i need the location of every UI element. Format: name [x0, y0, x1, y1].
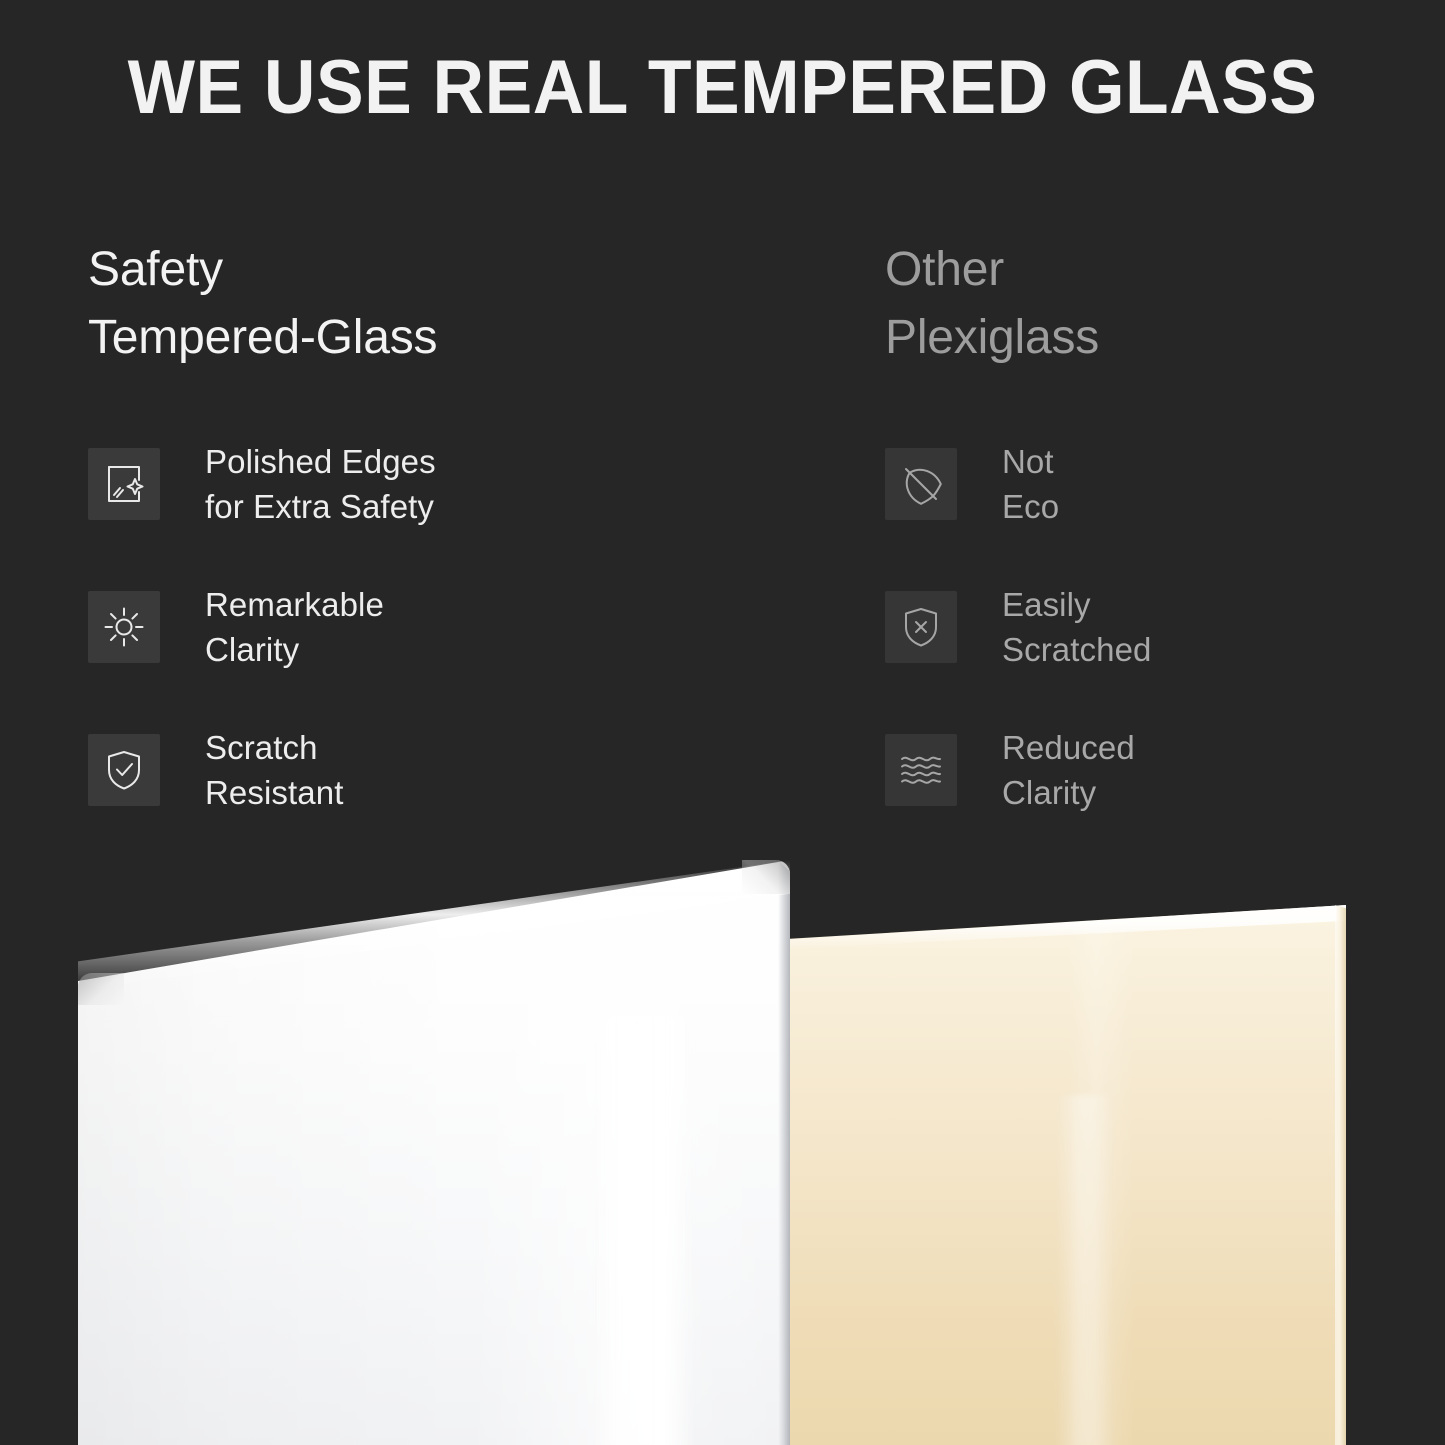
tempered-glass-panel-side-edge [778, 860, 790, 1445]
glass-panels-illustration [0, 840, 1445, 1445]
feature-label: Polished Edges for Extra Safety [205, 439, 436, 529]
feature-label: Remarkable Clarity [205, 582, 384, 672]
feature-list-left: Polished Edges for Extra Safety [88, 448, 848, 806]
column-other-plexiglass: Other Plexiglass Not Eco [885, 236, 1425, 806]
feature-label: Easily Scratched [1002, 582, 1151, 672]
sun-clarity-icon [88, 591, 160, 663]
plexiglass-panel-reflection [1055, 1095, 1115, 1445]
feature-list-right: Not Eco Easily Scratched [885, 448, 1425, 806]
plexiglass-panel [790, 905, 1346, 1445]
column-safety-tempered-glass: Safety Tempered-Glass Polished Edges for… [88, 236, 848, 806]
wavy-lines-icon [885, 734, 957, 806]
tempered-glass-panel-corner-top-left [78, 973, 124, 1005]
feature-label: Scratch Resistant [205, 725, 343, 815]
column-heading-left: Safety Tempered-Glass [88, 236, 848, 372]
shield-check-icon [88, 734, 160, 806]
page-title: WE USE REAL TEMPERED GLASS [43, 42, 1401, 134]
feature-row: Polished Edges for Extra Safety [88, 448, 848, 520]
feature-row: Reduced Clarity [885, 734, 1425, 806]
product-comparison-graphic: WE USE REAL TEMPERED GLASS Safety Temper… [0, 0, 1445, 1445]
feature-row: Scratch Resistant [88, 734, 848, 806]
shield-x-icon [885, 591, 957, 663]
tempered-glass-panel-corner-top-right [742, 860, 790, 894]
feature-row: Easily Scratched [885, 591, 1425, 663]
crossed-out-leaf-icon [885, 448, 957, 520]
feature-label: Reduced Clarity [1002, 725, 1135, 815]
feature-label: Not Eco [1002, 439, 1059, 529]
plexiglass-panel-side-edge [1335, 905, 1346, 1445]
feature-row: Not Eco [885, 448, 1425, 520]
feature-row: Remarkable Clarity [88, 591, 848, 663]
tempered-glass-panel [78, 860, 790, 1445]
tempered-glass-panel-reflection [591, 1015, 696, 1445]
column-heading-right: Other Plexiglass [885, 236, 1425, 372]
polished-glass-pane-sparkle-icon [88, 448, 160, 520]
